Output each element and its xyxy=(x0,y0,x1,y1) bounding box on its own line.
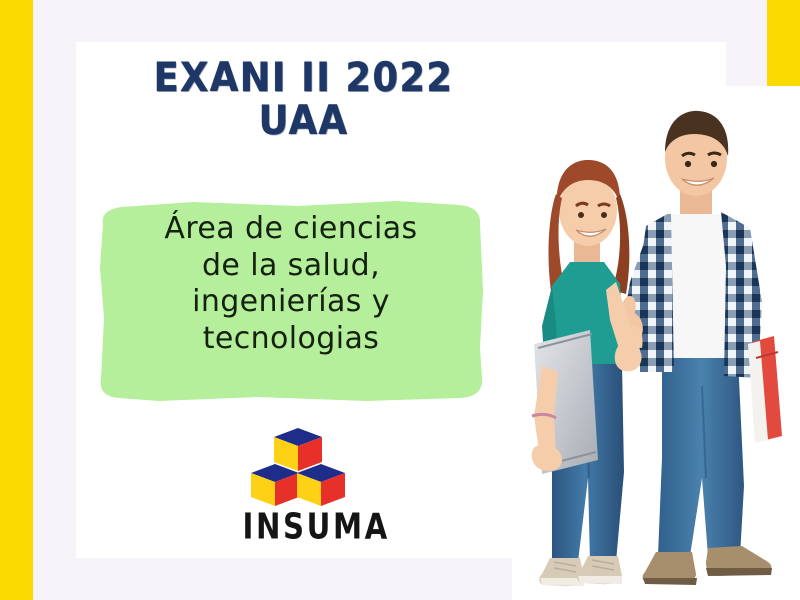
students-photo xyxy=(512,86,800,600)
highlight-block-text: Área de ciencias de la salud, ingeniería… xyxy=(97,211,485,357)
logo-wordmark: INSUMA xyxy=(243,509,372,545)
title-line-1: EXANI II 2022 xyxy=(94,57,513,100)
title-line-2: UAA xyxy=(94,100,513,143)
highlight-line-1: Área de ciencias xyxy=(97,211,485,248)
poster: EXANI II 2022 UAA Área de ciencias de la… xyxy=(0,0,800,600)
highlight-line-2: de la salud, xyxy=(97,248,485,285)
insuma-logo: INSUMA xyxy=(232,426,382,544)
highlight-line-3: ingenierías y xyxy=(97,284,485,321)
border-bar-left xyxy=(0,0,33,600)
highlight-line-4: tecnologias xyxy=(97,321,485,358)
page-title: EXANI II 2022 UAA xyxy=(94,57,513,143)
cubes-icon xyxy=(250,426,346,508)
